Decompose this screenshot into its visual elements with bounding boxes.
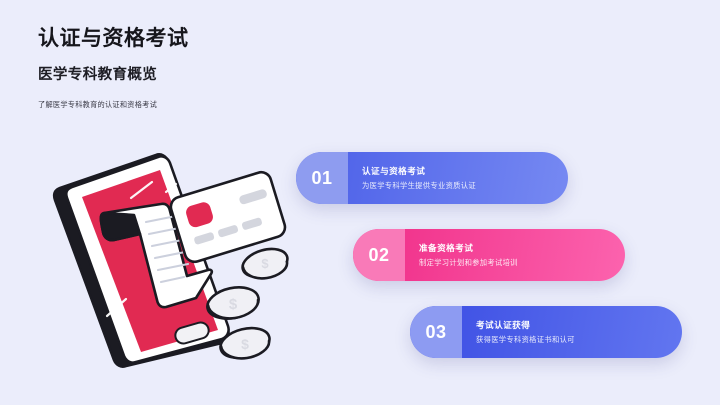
step-card-title: 考试认证获得 (476, 320, 575, 331)
step-number-badge: 02 (353, 229, 405, 281)
step-number-badge: 03 (410, 306, 462, 358)
step-card-body: 认证与资格考试 为医学专科学生提供专业资质认证 (362, 166, 476, 191)
step-card-description: 为医学专科学生提供专业资质认证 (362, 181, 476, 190)
step-card[interactable]: 01 认证与资格考试 为医学专科学生提供专业资质认证 (296, 152, 568, 204)
slide-canvas: 认证与资格考试 医学专科教育概览 了解医学专科教育的认证和资格考试 (0, 0, 720, 405)
step-number: 02 (368, 245, 389, 266)
step-card[interactable]: 03 考试认证获得 获得医学专科资格证书和认可 (410, 306, 682, 358)
step-card-body: 考试认证获得 获得医学专科资格证书和认可 (476, 320, 575, 345)
step-card-title: 认证与资格考试 (362, 166, 476, 177)
step-card-body: 准备资格考试 制定学习计划和参加考试培训 (419, 243, 518, 268)
step-card-description: 制定学习计划和参加考试培训 (419, 258, 518, 267)
step-number-badge: 01 (296, 152, 348, 204)
step-card-title: 准备资格考试 (419, 243, 518, 254)
step-card-description: 获得医学专科资格证书和认可 (476, 335, 575, 344)
step-number: 01 (311, 168, 332, 189)
step-number: 03 (425, 322, 446, 343)
step-card-list: 01 认证与资格考试 为医学专科学生提供专业资质认证 02 准备资格考试 制定学… (0, 0, 720, 405)
step-card[interactable]: 02 准备资格考试 制定学习计划和参加考试培训 (353, 229, 625, 281)
